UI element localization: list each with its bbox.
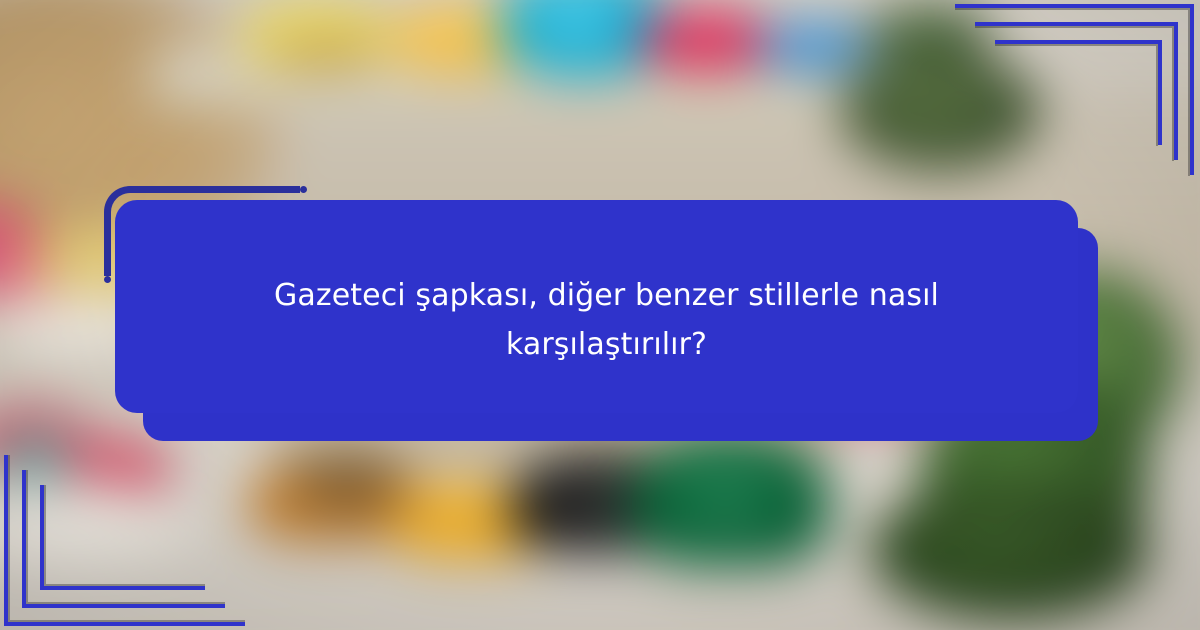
quote-card-text-area: Gazeteci şapkası, diğer benzer stillerle… [115,200,1098,441]
share-card-canvas: Gazeteci şapkası, diğer benzer stillerle… [0,0,1200,630]
headline-text: Gazeteci şapkası, diğer benzer stillerle… [225,272,988,369]
